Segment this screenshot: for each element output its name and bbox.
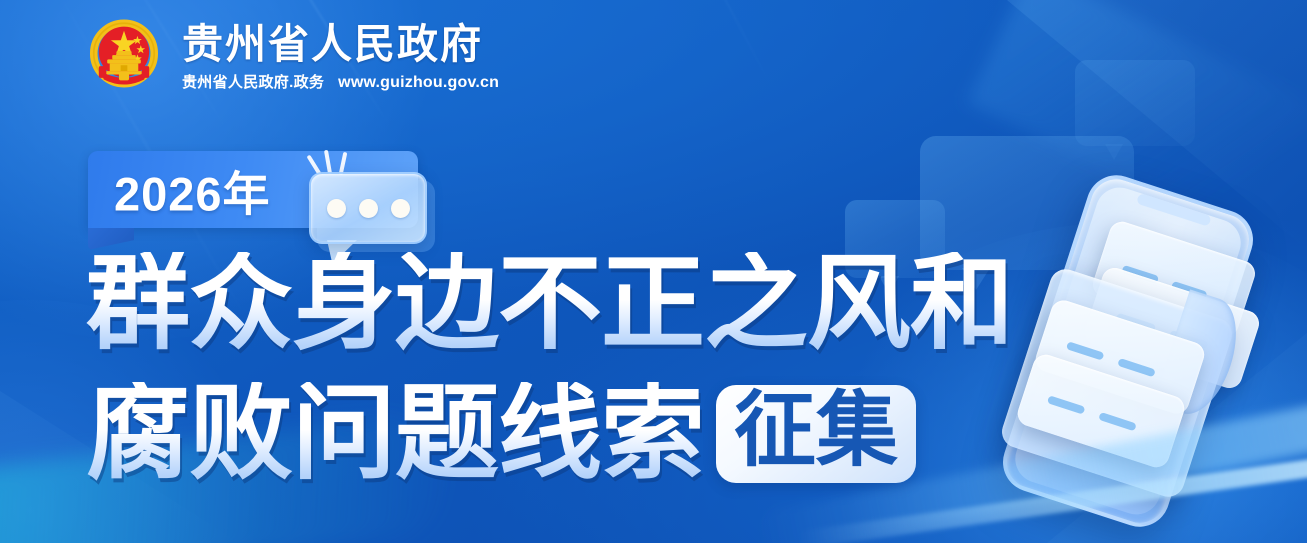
card-bar xyxy=(1117,358,1156,377)
headline-block: 群众身边不正之风和 腐败问题线索 征集 xyxy=(86,252,986,486)
typing-dots xyxy=(309,172,427,244)
headline-line-1: 群众身边不正之风和 xyxy=(86,252,986,356)
collection-badge-text: 征集 xyxy=(734,390,898,472)
collection-badge: 征集 xyxy=(716,385,916,483)
headline-line-2: 腐败问题线索 征集 xyxy=(86,382,986,486)
sparkle-line-icon xyxy=(324,150,332,174)
chat-bubble-dots-icon xyxy=(299,152,431,260)
gov-subtitle: 贵州省人民政府.政务 www.guizhou.gov.cn xyxy=(182,71,499,92)
year-label: 2026年 xyxy=(114,155,271,224)
card-bar xyxy=(1098,412,1137,431)
gov-title: 贵州省人民政府 xyxy=(182,22,499,66)
card-bar xyxy=(1065,342,1104,361)
gov-campaign-banner: 贵州省人民政府 贵州省人民政府.政务 www.guizhou.gov.cn 20… xyxy=(0,0,1307,543)
gov-logo-lockup[interactable]: 贵州省人民政府 贵州省人民政府.政务 www.guizhou.gov.cn xyxy=(82,14,499,98)
gov-website-url[interactable]: www.guizhou.gov.cn xyxy=(338,74,499,92)
decorative-speech-bubble xyxy=(1075,60,1195,146)
dot-icon xyxy=(359,199,378,218)
gov-subtitle-cn: 贵州省人民政府.政务 xyxy=(182,71,324,92)
headline-line-2-text: 腐败问题线索 xyxy=(86,382,704,486)
headline-line-1-text: 群众身边不正之风和 xyxy=(86,252,1013,356)
phone-illustration xyxy=(1002,178,1302,543)
dot-icon xyxy=(391,199,410,218)
light-streak xyxy=(639,0,782,104)
dot-icon xyxy=(327,199,346,218)
national-emblem-icon xyxy=(82,14,166,98)
card-bar xyxy=(1047,396,1086,415)
gov-text-block: 贵州省人民政府 贵州省人民政府.政务 www.guizhou.gov.cn xyxy=(182,22,499,92)
